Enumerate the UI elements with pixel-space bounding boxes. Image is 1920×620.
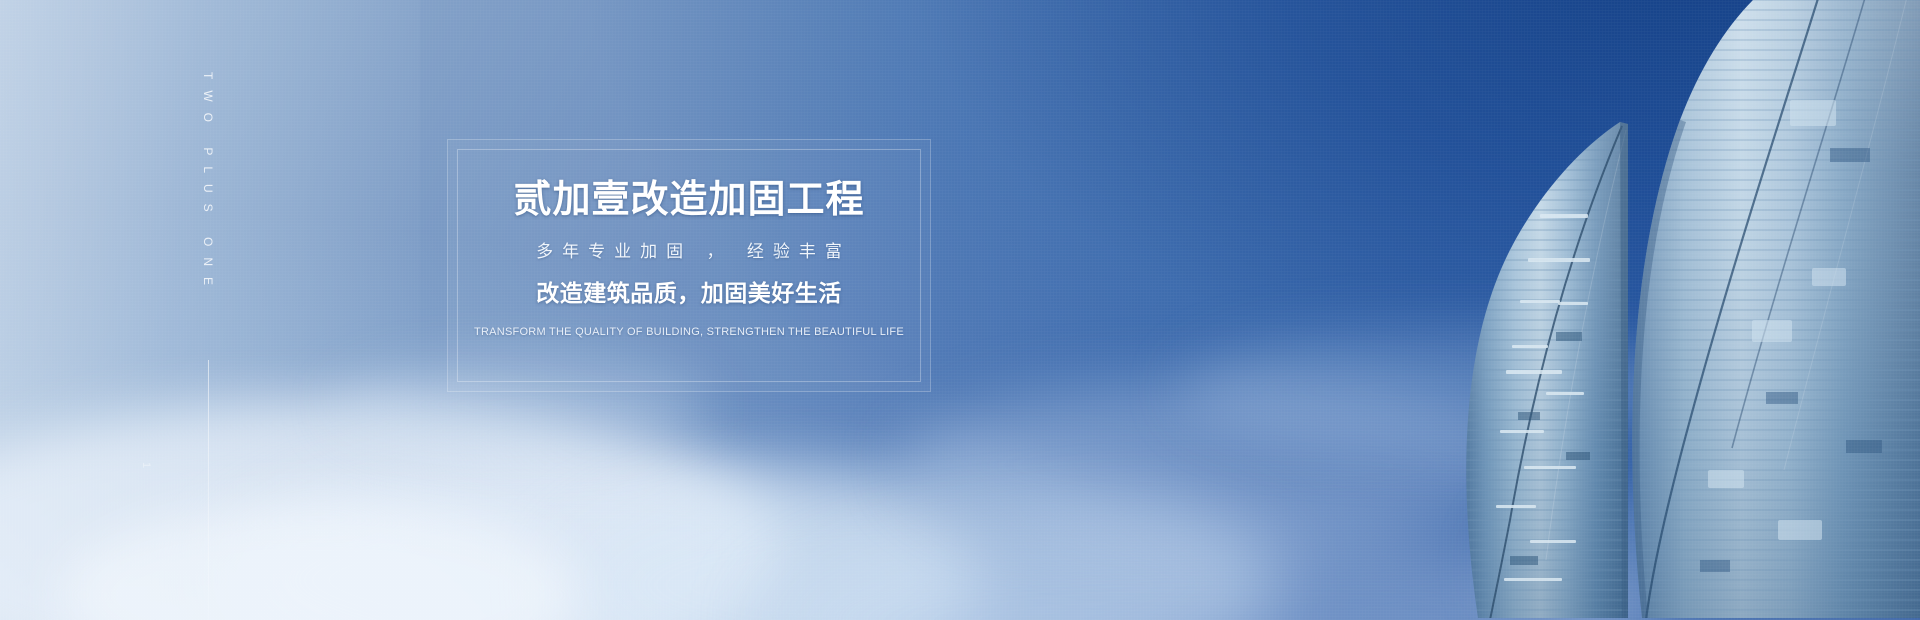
hero-panel-content: 贰加壹改造加固工程 多年专业加固 ， 经验丰富 改造建筑品质，加固美好生活 TR… bbox=[448, 140, 930, 391]
brand-vertical-text: TWO PLUS ONE bbox=[201, 72, 215, 296]
brand-divider-line bbox=[208, 360, 209, 620]
hero-tagline: 改造建筑品质，加固美好生活 bbox=[536, 281, 842, 309]
brand-rail: TWO PLUS ONE 1 bbox=[178, 0, 238, 620]
hero-title: 贰加壹改造加固工程 bbox=[513, 178, 864, 221]
hero-subtitle: 多年专业加固 ， 经验丰富 bbox=[527, 242, 851, 262]
hero-banner: TWO PLUS ONE 1 贰加壹改造加固工程 多年专业加固 ， 经验丰富 改… bbox=[0, 0, 1920, 620]
hero-english-tagline: TRANSFORM THE QUALITY OF BUILDING, STREN… bbox=[474, 325, 904, 339]
hero-text-panel: 贰加壹改造加固工程 多年专业加固 ， 经验丰富 改造建筑品质，加固美好生活 TR… bbox=[447, 139, 931, 392]
brand-corner-mark: 1 bbox=[140, 462, 152, 470]
